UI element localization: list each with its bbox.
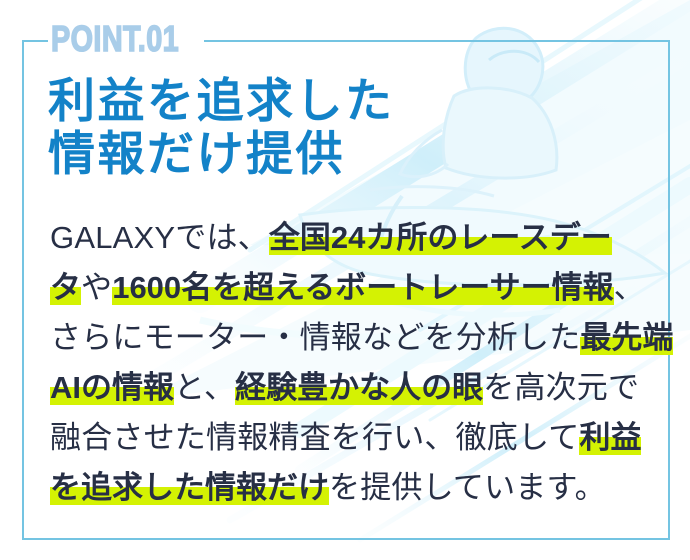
highlighted-phrase: 経験豊かな人の眼 bbox=[235, 370, 483, 405]
body-line: さらにモーター・情報などを分析した最先端 bbox=[50, 313, 662, 363]
highlighted-phrase: 全国24カ所のレースデー bbox=[269, 220, 612, 255]
frame-left-segment bbox=[22, 40, 24, 540]
frame-top-right-segment bbox=[204, 40, 670, 42]
body-text-run: を高次元で bbox=[483, 370, 639, 405]
highlighted-phrase: 利益 bbox=[579, 420, 641, 455]
point-card: POINT.01 利益を追求した 情報だけ提供 GALAXYでは、全国24カ所の… bbox=[0, 0, 690, 560]
body-line: 融合させた情報精査を行い、徹底して利益 bbox=[50, 413, 662, 463]
body-text-run: 融合させた情報精査を行い、徹底して bbox=[50, 420, 579, 455]
frame-top-left-segment bbox=[22, 40, 48, 42]
point-number-label: POINT.01 bbox=[51, 19, 179, 59]
highlighted-phrase: 最先端 bbox=[580, 320, 673, 355]
body-text-run: 、 bbox=[614, 270, 645, 305]
body-copy: GALAXYでは、全国24カ所のレースデータや1600名を超えるボートレーサー情… bbox=[50, 213, 662, 513]
highlighted-phrase: 1600名を超えるボートレーサー情報 bbox=[112, 270, 613, 305]
frame-bottom-segment bbox=[22, 538, 670, 540]
highlighted-phrase: タ bbox=[50, 270, 81, 305]
page-title: 利益を追求した 情報だけ提供 bbox=[48, 74, 395, 180]
body-line: タや1600名を超えるボートレーサー情報、 bbox=[50, 263, 662, 313]
body-text-run: GALAXYでは、 bbox=[50, 220, 269, 255]
body-line: AIの情報と、経験豊かな人の眼を高次元で bbox=[50, 363, 662, 413]
body-line: GALAXYでは、全国24カ所のレースデー bbox=[50, 213, 662, 263]
highlighted-phrase: AIの情報 bbox=[50, 370, 174, 405]
body-line: を追求した情報だけを提供しています。 bbox=[50, 463, 662, 513]
body-text-run: や bbox=[81, 270, 112, 305]
highlighted-phrase: を追求した情報だけ bbox=[50, 470, 329, 505]
body-text-run: と、 bbox=[174, 370, 235, 405]
body-text-run: を提供しています。 bbox=[329, 470, 606, 505]
body-text-run: さらにモーター・情報などを分析した bbox=[50, 320, 580, 355]
frame-right-segment bbox=[668, 40, 670, 540]
